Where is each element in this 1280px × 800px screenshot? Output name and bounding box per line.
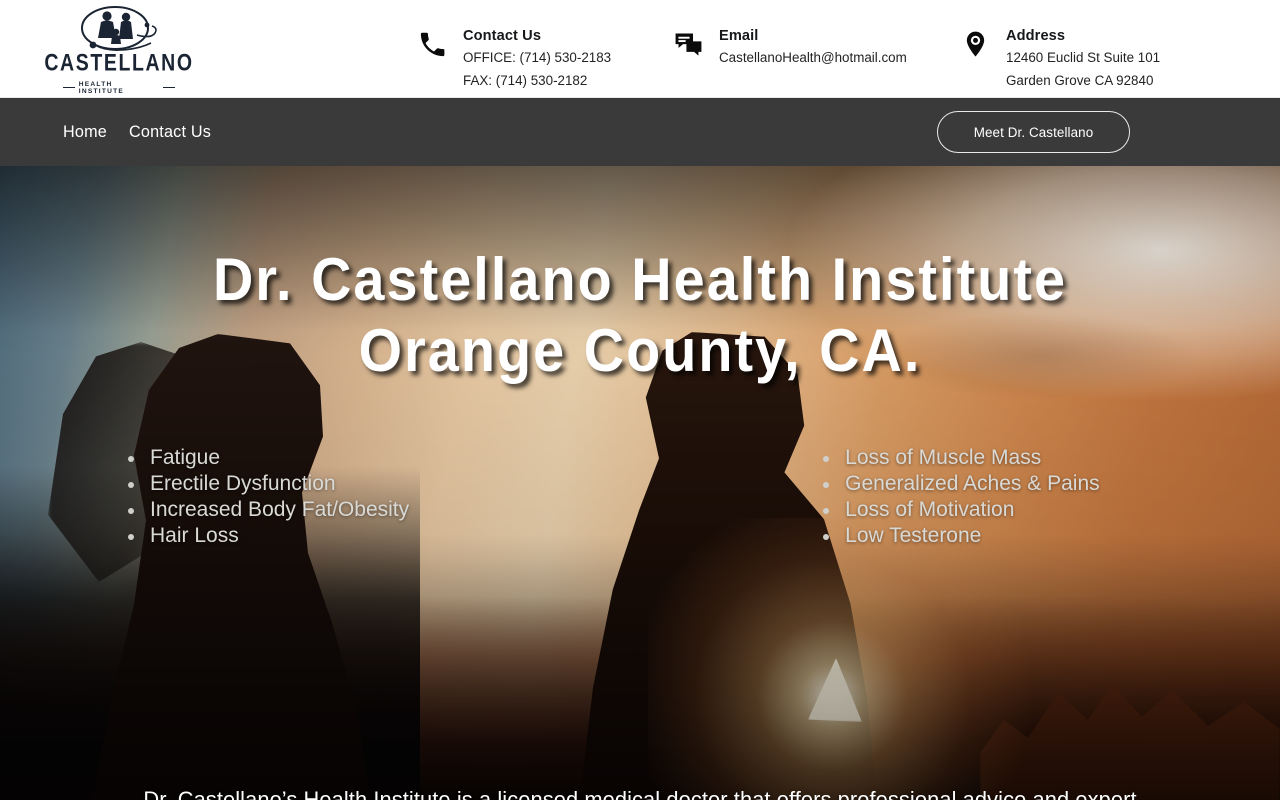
nav-link-list: Home Contact Us — [63, 123, 211, 142]
contact-phone-fax: FAX: (714) 530-2182 — [463, 69, 611, 92]
meet-dr-castellano-button[interactable]: Meet Dr. Castellano — [937, 111, 1130, 153]
main-navigation: Home Contact Us Meet Dr. Castellano — [0, 98, 1280, 166]
list-item: Erectile Dysfunction — [128, 471, 409, 497]
hero-title-line-2: Orange County, CA. — [45, 315, 1235, 386]
contact-title-address: Address — [1006, 26, 1160, 46]
list-item: Increased Body Fat/Obesity — [128, 497, 409, 523]
contact-phone-office[interactable]: OFFICE: (714) 530-2183 — [463, 46, 611, 69]
contact-title-phone: Contact Us — [463, 26, 611, 46]
list-item: Hair Loss — [128, 523, 409, 549]
list-item: Generalized Aches & Pains — [823, 471, 1099, 497]
contact-address-line1: 12460 Euclid St Suite 101 — [1006, 46, 1160, 69]
nav-item-home[interactable]: Home — [63, 123, 107, 142]
logo-wordmark: CASTELLANO — [44, 52, 193, 76]
hero-title-line-1: Dr. Castellano Health Institute — [45, 244, 1235, 315]
site-header: CASTELLANO HEALTH INSTITUTE Contact Us O… — [0, 0, 1280, 98]
phone-icon — [417, 26, 450, 60]
site-logo[interactable]: CASTELLANO HEALTH INSTITUTE — [63, 5, 175, 95]
symptom-list-right: Loss of Muscle Mass Generalized Aches & … — [823, 445, 1099, 549]
list-item: Fatigue — [128, 445, 409, 471]
hero-section: Dr. Castellano Health Institute Orange C… — [0, 166, 1280, 800]
list-item: Low Testerone — [823, 523, 1099, 549]
contact-block-email: Email CastellanoHealth@hotmail.com — [673, 26, 907, 69]
castellano-family-emblem-icon — [71, 5, 167, 52]
chat-bubbles-icon — [673, 26, 706, 60]
contact-email-address[interactable]: CastellanoHealth@hotmail.com — [719, 46, 907, 69]
list-item: Loss of Muscle Mass — [823, 445, 1099, 471]
map-pin-icon — [960, 26, 993, 60]
logo-rule-left — [63, 87, 75, 88]
nav-item-contact-us[interactable]: Contact Us — [129, 123, 211, 142]
hero-paragraph: Dr. Castellano’s Health Institute is a l… — [126, 788, 1154, 800]
logo-tagline: HEALTH INSTITUTE — [63, 81, 175, 95]
logo-rule-right — [163, 87, 175, 88]
list-item: Loss of Motivation — [823, 497, 1099, 523]
symptom-columns: Fatigue Erectile Dysfunction Increased B… — [0, 445, 1280, 549]
contact-title-email: Email — [719, 26, 907, 46]
contact-address-line2: Garden Grove CA 92840 — [1006, 69, 1160, 92]
contact-block-phone: Contact Us OFFICE: (714) 530-2183 FAX: (… — [417, 26, 611, 92]
hero-title: Dr. Castellano Health Institute Orange C… — [45, 244, 1235, 386]
symptom-list-left: Fatigue Erectile Dysfunction Increased B… — [128, 445, 409, 549]
contact-block-address: Address 12460 Euclid St Suite 101 Garden… — [960, 26, 1160, 92]
